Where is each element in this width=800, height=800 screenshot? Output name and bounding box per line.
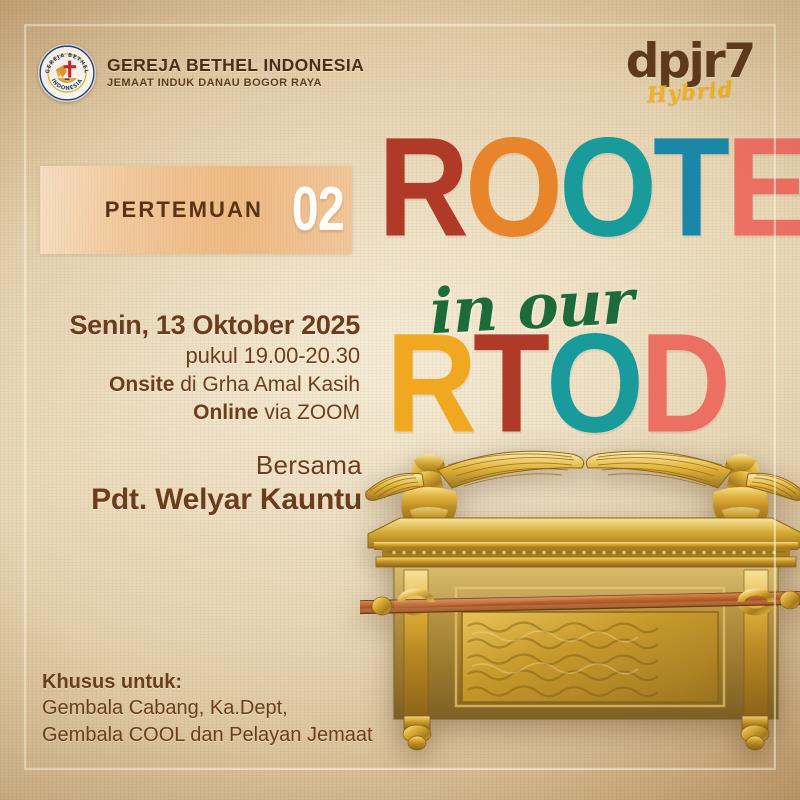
audience-line-2: Gembala COOL dan Pelayan Jemaat [42,722,373,748]
speaker-block: Bersama Pdt. Welyar Kauntu [0,450,362,517]
title-letter: D [640,324,727,443]
ark-of-the-covenant-illustration [360,430,800,760]
title-letter: T [653,128,726,247]
org-text-block: GEREJA BETHEL INDONESIA JEMAAT INDUK DAN… [107,57,364,90]
online-label: Online [193,401,258,424]
speaker-prefix: Bersama [0,450,362,481]
title-letter: E [726,128,800,247]
dpjr7-brand-logo: dpjr7 Hybrid [626,40,754,104]
main-title: ROOTED in our RTOD [378,128,768,468]
organization-subtitle: JEMAAT INDUK DANAU BOGOR RAYA [107,78,364,89]
gbi-seal-logo-icon: GEREJA BETHEL INDONESIA [38,44,96,102]
meeting-label: PERTEMUAN [105,197,263,223]
organization-name: GEREJA BETHEL INDONESIA [107,57,364,75]
audience-line-1: Gembala Cabang, Ka.Dept, [42,695,373,721]
audience-heading: Khusus untuk: [42,669,373,695]
event-online: Online via ZOOM [0,401,360,425]
event-date: Senin, 13 Oktober 2025 [0,310,360,341]
online-platform: via ZOOM [258,401,360,424]
title-letter: O [559,128,653,247]
poster-header: GEREJA BETHEL INDONESIA GEREJA BETHEL IN… [38,44,364,102]
audience-note: Khusus untuk: Gembala Cabang, Ka.Dept, G… [42,669,373,748]
meeting-number: 02 [292,185,344,236]
title-letter: O [465,128,559,247]
title-line-rooted: ROOTED [378,128,768,234]
event-time: pukul 19.00-20.30 [0,343,360,369]
title-script-in-our: in our [428,265,635,349]
onsite-venue: di Grha Amal Kasih [174,373,360,396]
event-onsite: Onsite di Grha Amal Kasih [0,373,360,397]
event-details: Senin, 13 Oktober 2025 pukul 19.00-20.30… [0,310,360,426]
title-letter: O [546,324,640,443]
title-letter: R [378,128,465,247]
meeting-number-banner: PERTEMUAN 02 [40,166,352,254]
poster-canvas: GEREJA BETHEL INDONESIA GEREJA BETHEL IN… [0,0,800,800]
speaker-name: Pdt. Welyar Kauntu [0,483,362,517]
onsite-label: Onsite [109,373,174,396]
